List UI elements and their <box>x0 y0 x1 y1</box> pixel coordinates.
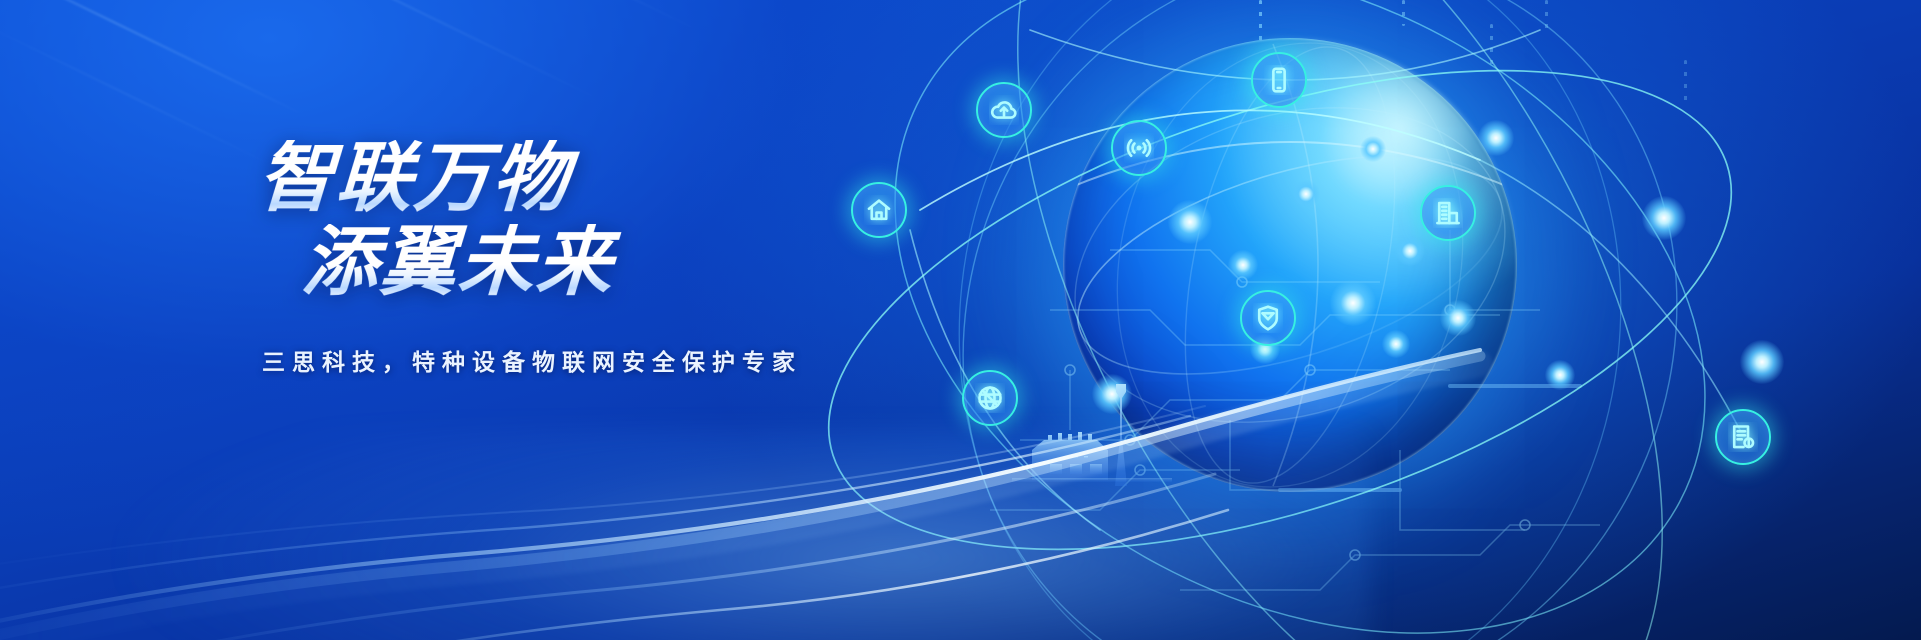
building-icon[interactable] <box>1420 185 1476 241</box>
globe-network-icon[interactable] <box>962 370 1018 426</box>
copy-block: 智联万物 添翼未来 三思科技，特种设备物联网安全保护专家 <box>250 140 890 377</box>
wifi-signal-icon[interactable] <box>1111 120 1167 176</box>
banner-subtitle: 三思科技，特种设备物联网安全保护专家 <box>262 343 890 377</box>
headline-line-2: 添翼未来 <box>300 224 892 302</box>
circuit-traces-decor <box>980 190 1620 620</box>
headline-line-1: 智联万物 <box>256 140 892 218</box>
smartphone-icon[interactable] <box>1251 52 1307 108</box>
cloud-upload-icon[interactable] <box>976 82 1032 138</box>
shield-icon[interactable] <box>1240 290 1296 346</box>
banner-stage: 智联万物 添翼未来 三思科技，特种设备物联网安全保护专家 <box>0 0 1921 640</box>
report-settings-icon[interactable] <box>1715 409 1771 465</box>
